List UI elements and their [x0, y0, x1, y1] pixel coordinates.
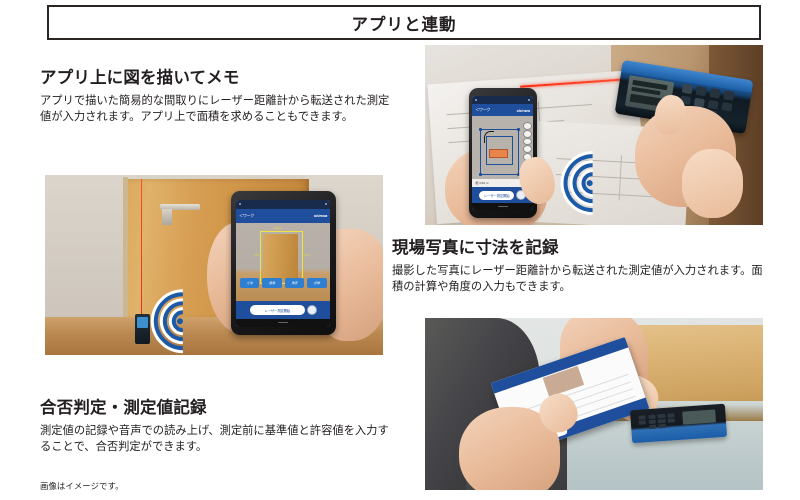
section-body-draw-memo: アプリで描いた簡易的な間取りにレーザー距離計から転送された測定値が入力されます。…: [40, 93, 392, 126]
section-heading-draw-memo: アプリ上に図を描いてメモ: [40, 68, 392, 89]
nav-back-label[interactable]: ＜ワーク: [475, 107, 490, 113]
tool-button-label: 記録: [314, 281, 320, 285]
nav-back-label[interactable]: ＜ワーク: [239, 213, 254, 219]
section-pass-fail: 合否判定・測定値記録 測定値の記録や音声での読み上げ、測定前に基準値と許容値を入…: [40, 398, 392, 455]
tool-button-label: 角度: [291, 281, 297, 285]
measure-start-button[interactable]: レーザー測定開始: [250, 305, 305, 315]
footnote: 画像はイメージです。: [40, 480, 124, 492]
tool-button-label: 面積: [269, 281, 275, 285]
section-body-pass-fail: 測定値の記録や音声での読み上げ、測定前に基準値と許容値を入力することで、合否判定…: [40, 423, 392, 456]
tool-button-1[interactable]: 面積: [262, 278, 281, 288]
status-bar: [472, 96, 533, 104]
laser-beam: [141, 179, 142, 334]
section-heading-pass-fail: 合否判定・測定値記録: [40, 398, 392, 419]
tool-button-label: 寸法: [247, 281, 253, 285]
photo-scene-top-right: ＜ワーク shinwa: [425, 45, 763, 225]
floorplan-outline: [480, 129, 520, 175]
captured-door-photo: 0.80 m 2.00 m 2.00 m: [236, 223, 330, 302]
brand-logo: shinwa: [314, 213, 328, 218]
tool-button-0[interactable]: 寸法: [240, 278, 259, 288]
photo-scene-bottom-right: [425, 318, 763, 490]
photo-canvas[interactable]: 0.80 m 2.00 m 2.00 m 寸法 面積 角度 記録: [236, 223, 330, 302]
finger-group: [682, 149, 743, 217]
door-handle-plate: [162, 209, 172, 225]
measurement-highlight-frame[interactable]: [260, 231, 303, 283]
poster-root: アプリと連動 アプリ上に図を描いてメモ アプリで描いた簡易的な間取りにレーザー距…: [0, 0, 800, 500]
android-nav-bar: [472, 203, 533, 210]
dimension-top: 0.80 m: [274, 227, 282, 230]
photo-scene-mid-left: ＜ワーク shinwa 0.80 m 2.00 m 2.00 m 寸法: [45, 175, 383, 355]
photo-record-values: [425, 318, 763, 490]
tool-button-3[interactable]: 記録: [307, 278, 326, 288]
tool-icon[interactable]: [523, 122, 532, 130]
brand-logo: shinwa: [517, 108, 531, 113]
app-nav-bar: ＜ワーク shinwa: [236, 209, 330, 223]
dimension-right: 2.00 m: [302, 254, 310, 257]
photo-app-floorplan-sync: ＜ワーク shinwa: [425, 45, 763, 225]
app-nav-bar: ＜ワーク shinwa: [472, 104, 533, 117]
section-body-photo-dimension: 撮影した写真にレーザー距離計から転送された測定値が入力されます。面積の計算や角度…: [392, 263, 764, 296]
photo-door-measure: ＜ワーク shinwa 0.80 m 2.00 m 2.00 m 寸法: [45, 175, 383, 355]
android-nav-bar: [236, 319, 330, 327]
section-photo-dimension: 現場写真に寸法を記録 撮影した写真にレーザー距離計から転送された測定値が入力され…: [392, 238, 764, 295]
section-heading-photo-dimension: 現場写真に寸法を記録: [392, 238, 764, 259]
page-title-box: アプリと連動: [47, 5, 761, 40]
measure-start-label: レーザー測定開始: [484, 193, 509, 198]
settings-icon[interactable]: [307, 305, 317, 315]
page-title: アプリと連動: [352, 11, 457, 35]
tool-button-row[interactable]: 寸法 面積 角度 記録: [240, 278, 327, 288]
info-strip-label: 幅 3.60 m: [472, 181, 488, 185]
smartphone-door-photo: ＜ワーク shinwa 0.80 m 2.00 m 2.00 m 寸法: [231, 191, 336, 335]
status-bar: [236, 200, 330, 209]
app-bottom-bar: レーザー測定開始: [236, 301, 330, 319]
measure-start-button[interactable]: レーザー測定開始: [479, 191, 514, 200]
area-value-badge[interactable]: [489, 149, 508, 158]
section-draw-memo: アプリ上に図を描いてメモ アプリで描いた簡易的な間取りにレーザー距離計から転送さ…: [40, 68, 392, 125]
tool-icon[interactable]: [523, 130, 532, 138]
tool-icon[interactable]: [523, 145, 532, 153]
phone-screen-door: ＜ワーク shinwa 0.80 m 2.00 m 2.00 m 寸法: [236, 200, 330, 327]
door-frame: [123, 177, 128, 321]
tool-icon[interactable]: [523, 138, 532, 146]
dimension-left: 2.00 m: [254, 254, 262, 257]
measure-start-label: レーザー測定開始: [265, 308, 290, 313]
tool-button-2[interactable]: 角度: [285, 278, 304, 288]
door-swing-arc: [484, 131, 495, 143]
